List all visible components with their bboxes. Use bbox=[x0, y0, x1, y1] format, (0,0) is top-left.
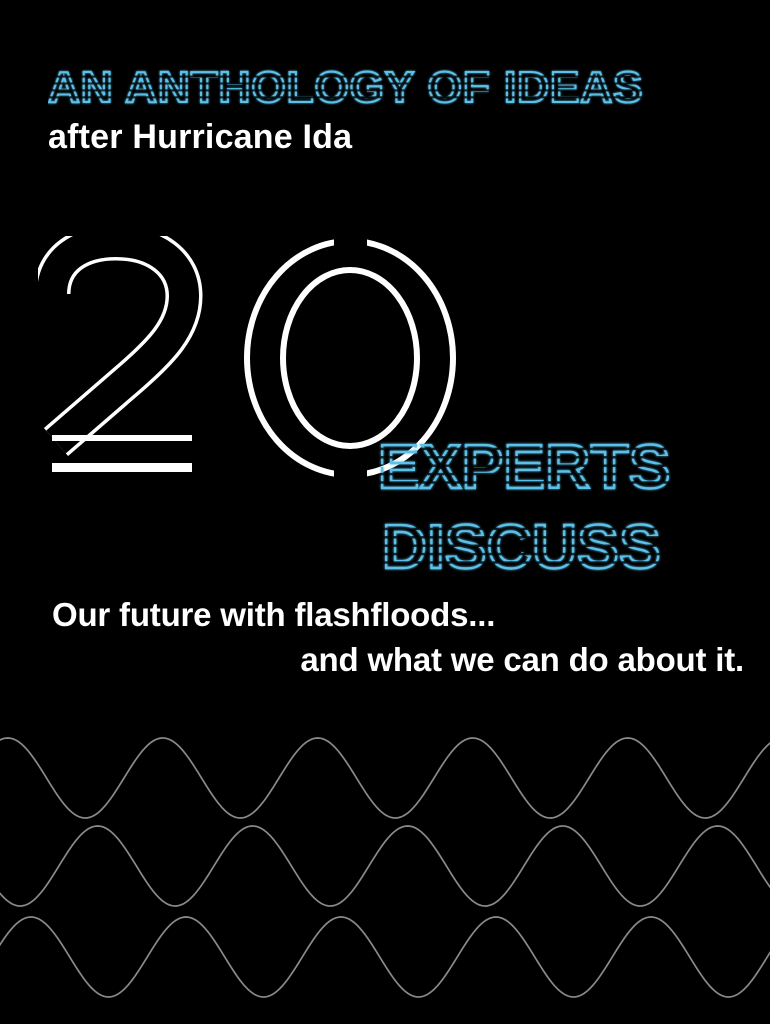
subtitle-block: Our future with flashfloods... and what … bbox=[0, 592, 770, 682]
wave-decoration bbox=[0, 700, 770, 1024]
subhead-text: after Hurricane Ida bbox=[48, 118, 738, 156]
wave-path bbox=[0, 826, 770, 906]
wave-path bbox=[0, 917, 770, 997]
subtitle-line-2: and what we can do about it. bbox=[0, 637, 770, 682]
kicker-svg: AN ANTHOLOGY OF IDEAS bbox=[48, 66, 716, 112]
experts-line: EXPERTS bbox=[378, 432, 718, 498]
discuss-text: DISCUSS bbox=[382, 513, 661, 578]
poster-canvas: AN ANTHOLOGY OF IDEAS after Hurricane Id… bbox=[0, 0, 770, 1024]
subtitle-line-1: Our future with flashfloods... bbox=[0, 592, 770, 637]
experts-text: EXPERTS bbox=[378, 433, 671, 498]
wave-svg bbox=[0, 700, 770, 1024]
header-block: AN ANTHOLOGY OF IDEAS after Hurricane Id… bbox=[48, 66, 738, 156]
kicker-line: AN ANTHOLOGY OF IDEAS bbox=[48, 66, 738, 112]
discuss-line: DISCUSS bbox=[378, 512, 718, 578]
kicker-text: AN ANTHOLOGY OF IDEAS bbox=[48, 66, 643, 112]
experts-svg: EXPERTS bbox=[378, 432, 718, 498]
discuss-svg: DISCUSS bbox=[378, 512, 718, 578]
wave-paths bbox=[0, 738, 770, 997]
wave-path bbox=[0, 738, 770, 818]
